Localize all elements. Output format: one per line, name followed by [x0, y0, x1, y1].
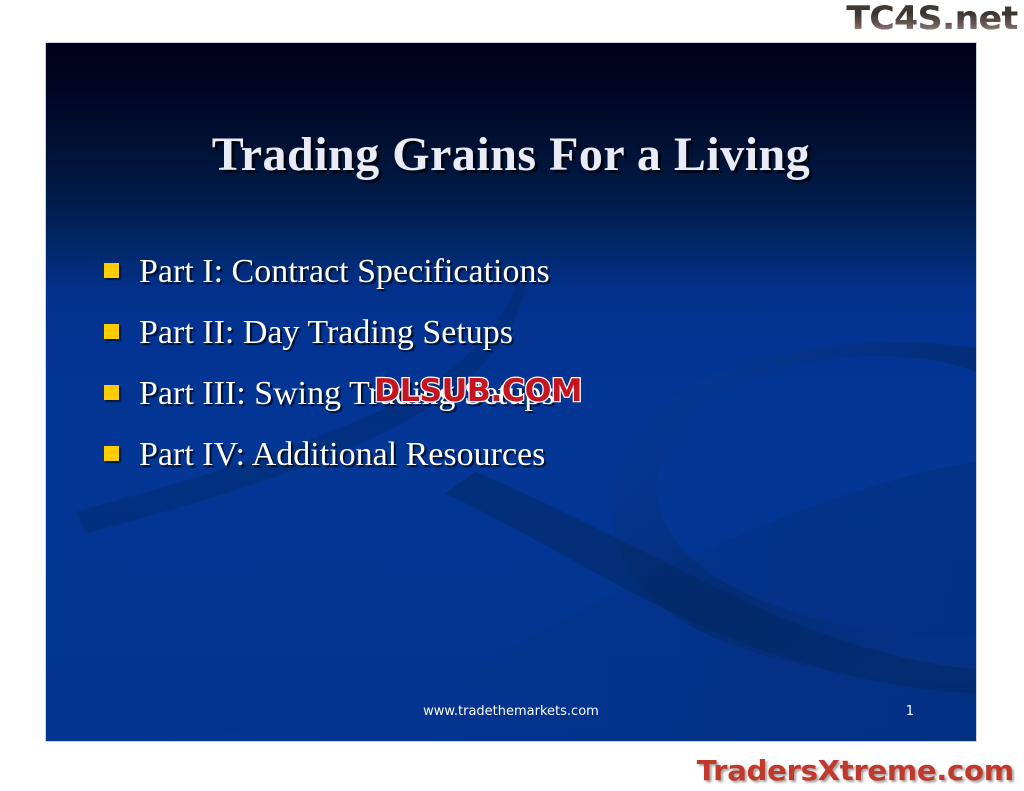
footer-url: www.tradethemarkets.com — [46, 704, 976, 719]
bullet-square-icon — [104, 263, 119, 278]
bullet-square-icon — [104, 446, 119, 461]
tradersxtreme-logo: TradersXtreme.com — [697, 755, 1014, 787]
list-item: Part II: Day Trading Setups — [104, 312, 936, 354]
dlsub-watermark: DLSUB.COM — [374, 374, 582, 408]
tc4s-site-logo: TC4S.net — [847, 1, 1018, 35]
slide-title: Trading Grains For a Living — [46, 127, 976, 183]
bullet-label: Part IV: Additional Resources — [139, 434, 545, 476]
footer-page-number: 1 — [906, 704, 914, 719]
list-item: Part IV: Additional Resources — [104, 434, 936, 476]
bullet-label: Part I: Contract Specifications — [139, 251, 550, 293]
bullet-square-icon — [104, 385, 119, 400]
list-item: Part I: Contract Specifications — [104, 251, 936, 293]
bullet-square-icon — [104, 324, 119, 339]
bullet-label: Part II: Day Trading Setups — [139, 312, 513, 354]
dlsub-watermark-text: DLSUB.COM — [374, 373, 582, 409]
